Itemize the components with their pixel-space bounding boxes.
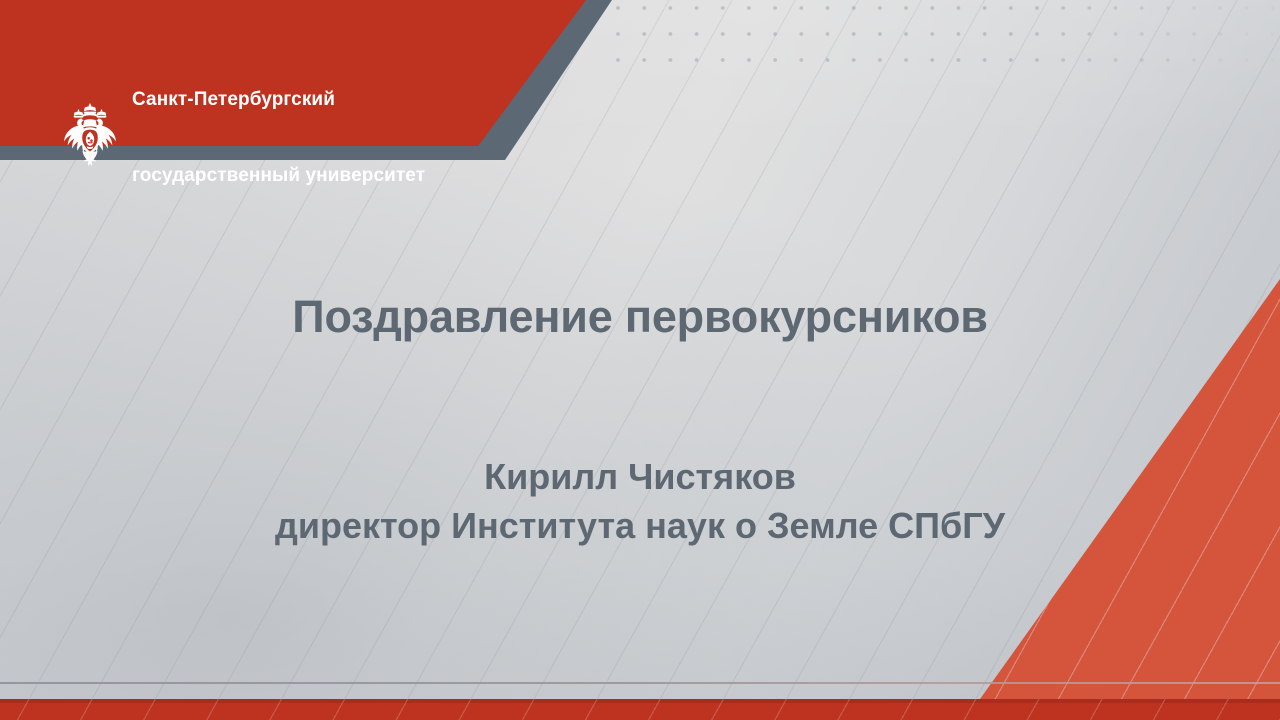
footer-red-bar [0, 699, 1280, 720]
university-name-line-2: государственный университет [132, 163, 425, 188]
footer-divider [0, 682, 1280, 684]
footer-bar-sheen [0, 699, 1280, 703]
university-name-line-1: Санкт-Петербургский [132, 87, 425, 112]
spbu-double-headed-eagle-icon [62, 101, 118, 174]
university-name: Санкт-Петербургский государственный унив… [132, 36, 425, 240]
presentation-slide: Санкт-Петербургский государственный унив… [0, 0, 1280, 720]
university-logo[interactable]: Санкт-Петербургский государственный унив… [62, 36, 425, 240]
